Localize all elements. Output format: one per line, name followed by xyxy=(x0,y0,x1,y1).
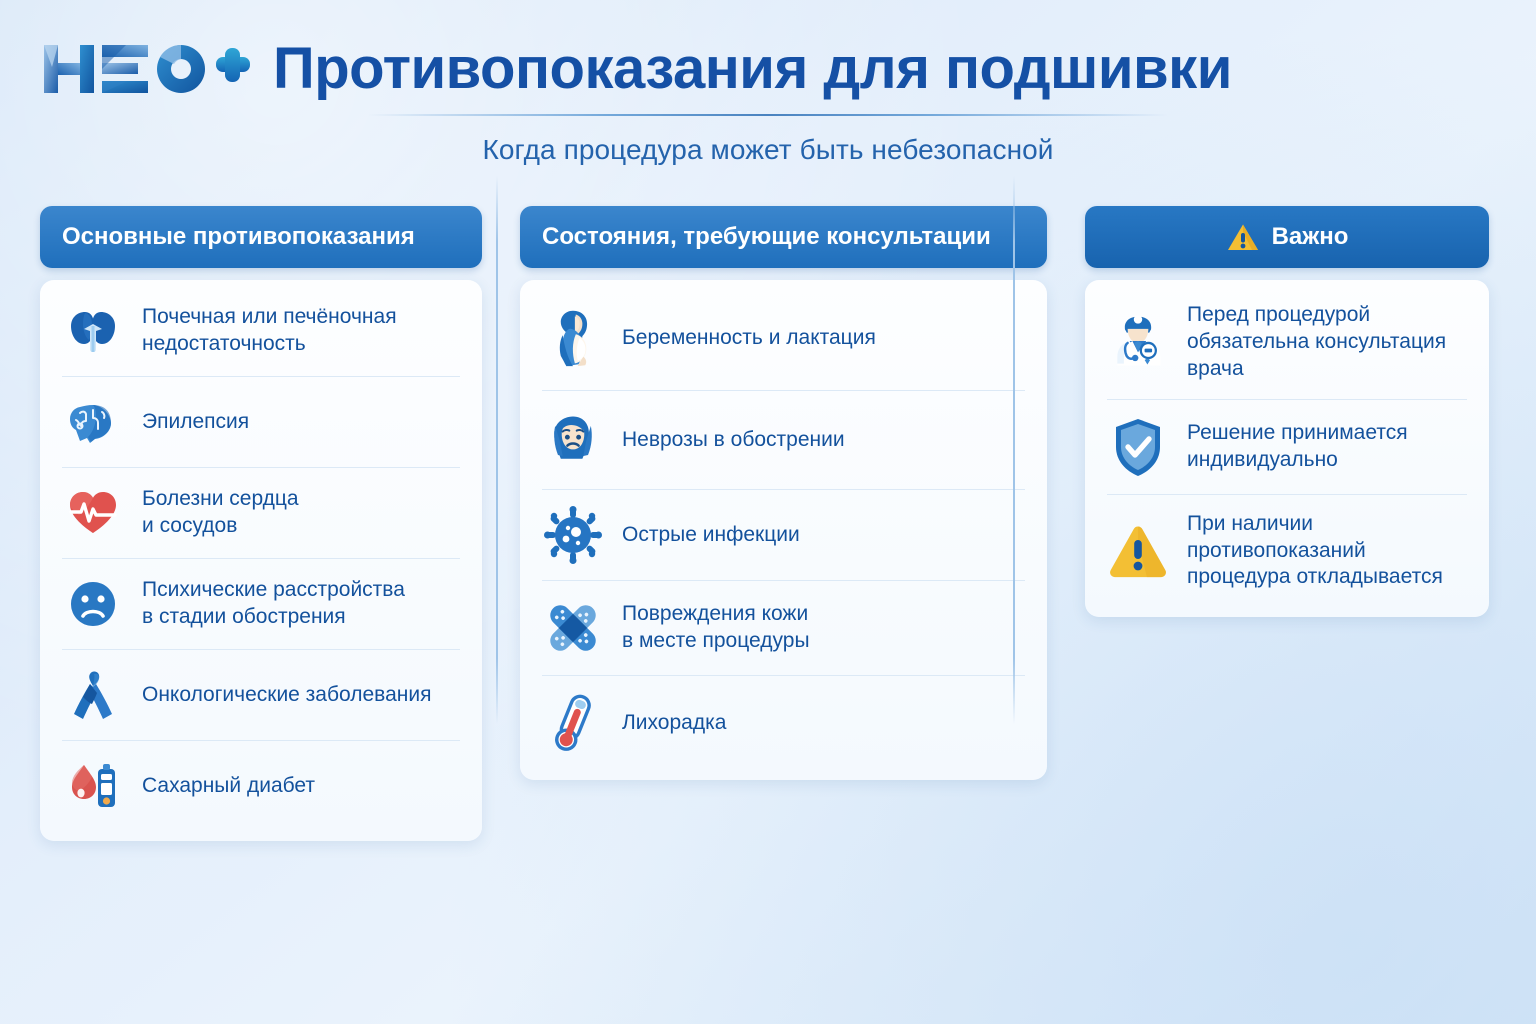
sad-face-icon xyxy=(62,575,124,633)
card-title-label: Основные противопоказания xyxy=(62,223,415,251)
list-item[interactable]: Почечная или печёночная недостаточность xyxy=(62,286,460,377)
neo-plus-logo xyxy=(40,38,255,100)
list-item[interactable]: Беременность и лактация xyxy=(542,286,1025,391)
stressed-woman-icon xyxy=(542,407,604,473)
card-header-conditions: Состояния, требующие консультации xyxy=(520,206,1047,268)
heart-pulse-icon xyxy=(62,484,124,542)
card-main-contraindications: Основные противопоказания Почечная или п… xyxy=(40,206,482,841)
list-item[interactable]: Острые инфекции xyxy=(542,490,1025,581)
cards-container: Основные противопоказания Почечная или п… xyxy=(0,166,1536,841)
list-item-label: Решение принимается индивидуально xyxy=(1187,420,1408,474)
card-important: Важно xyxy=(1085,206,1489,617)
shield-check-icon xyxy=(1107,416,1169,478)
card-header-main-contraindications: Основные противопоказания xyxy=(40,206,482,268)
blood-drop-glucometer-icon xyxy=(62,757,124,815)
list-item[interactable]: Психические расстройства в стадии обостр… xyxy=(62,559,460,650)
list-item-label: Неврозы в обострении xyxy=(622,427,845,454)
title-row: Противопоказания для подшивки xyxy=(0,38,1536,100)
bandages-icon xyxy=(542,597,604,659)
list-item-label: Лихорадка xyxy=(622,710,726,737)
awareness-ribbon-icon xyxy=(62,666,124,724)
list-item-label: Болезни сердца и сосудов xyxy=(142,486,299,540)
card-title-label: Важно xyxy=(1272,223,1349,251)
list-item-label: Беременность и лактация xyxy=(622,325,876,352)
list-item[interactable]: Лихорадка xyxy=(542,676,1025,770)
page-header: Противопоказания для подшивки Когда проц… xyxy=(0,0,1536,166)
list-item[interactable]: Онкологические заболевания xyxy=(62,650,460,741)
list-item-label: Психические расстройства в стадии обостр… xyxy=(142,577,405,631)
card-conditions-requiring-consultation: Состояния, требующие консультации xyxy=(520,206,1047,780)
list-item[interactable]: Перед процедурой обязательна консультаци… xyxy=(1107,286,1467,400)
list-item[interactable]: Решение принимается индивидуально xyxy=(1107,400,1467,495)
list-item-label: Почечная или печёночная недостаточность xyxy=(142,304,460,358)
logo-mark xyxy=(40,37,255,101)
card-title-label: Состояния, требующие консультации xyxy=(542,223,991,251)
card-header-important: Важно xyxy=(1085,206,1489,268)
list-item-label: Перед процедурой обязательна консультаци… xyxy=(1187,302,1467,383)
list-item-label: Эпилепсия xyxy=(142,409,249,436)
list-item-label: Повреждения кожи в месте процедуры xyxy=(622,601,810,655)
list-item[interactable]: При наличии противопоказаний процедура о… xyxy=(1107,495,1467,608)
page-title: Противопоказания для подшивки xyxy=(273,39,1232,98)
pregnant-woman-icon xyxy=(542,302,604,374)
list-item[interactable]: Сахарный диабет xyxy=(62,741,460,831)
kidneys-icon xyxy=(62,302,124,360)
list-item[interactable]: Повреждения кожи в месте процедуры xyxy=(542,581,1025,676)
list-item-label: Онкологические заболевания xyxy=(142,682,431,709)
warning-triangle-icon xyxy=(1107,523,1169,579)
column-divider-2 xyxy=(1013,176,1015,724)
virus-icon xyxy=(542,506,604,564)
column-divider-1 xyxy=(496,176,498,724)
list-item-label: Сахарный диабет xyxy=(142,773,315,800)
warning-triangle-icon xyxy=(1226,222,1260,253)
thermometer-icon xyxy=(542,692,604,754)
list-item-label: Острые инфекции xyxy=(622,522,800,549)
page-subtitle: Когда процедура может быть небезопасной xyxy=(0,134,1536,166)
card-body-important: Перед процедурой обязательна консультаци… xyxy=(1085,280,1489,617)
list-item-label: При наличии противопоказаний процедура о… xyxy=(1187,511,1467,592)
list-item[interactable]: Болезни сердца и сосудов xyxy=(62,468,460,559)
title-underline-rule xyxy=(368,114,1168,116)
doctor-icon xyxy=(1107,309,1169,375)
card-body-main-contraindications: Почечная или печёночная недостаточность xyxy=(40,280,482,841)
card-body-conditions: Беременность и лактация xyxy=(520,280,1047,780)
list-item[interactable]: Неврозы в обострении xyxy=(542,391,1025,490)
list-item[interactable]: Эпилепсия xyxy=(62,377,460,468)
brain-icon xyxy=(62,393,124,451)
